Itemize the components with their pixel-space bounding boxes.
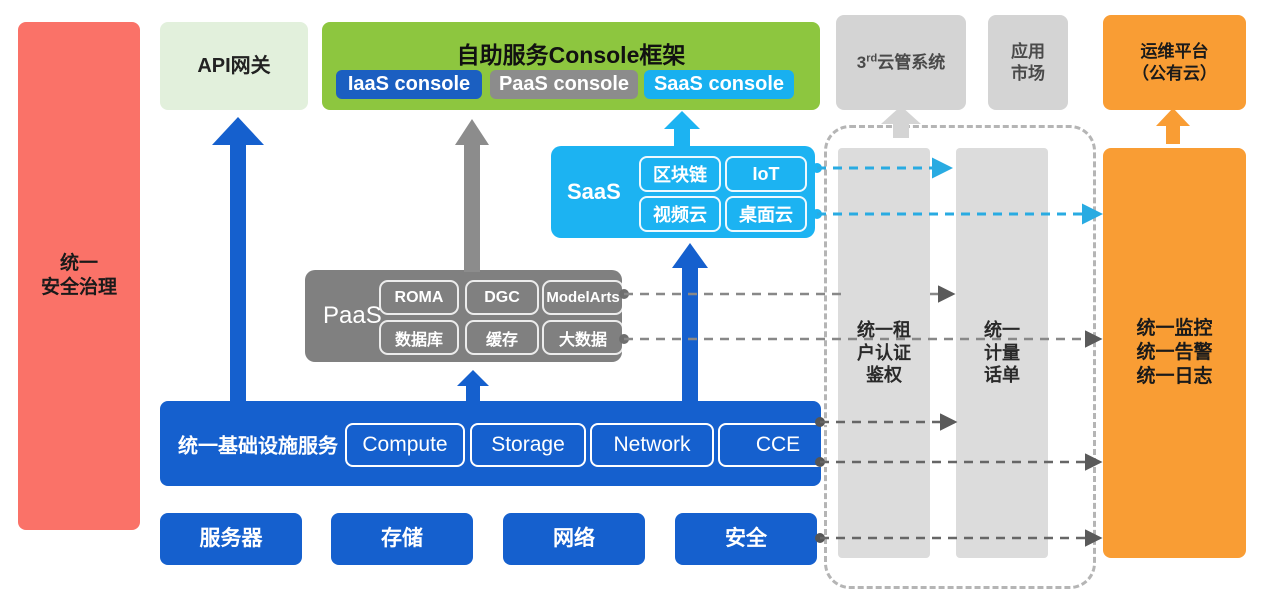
panel-unified-security-governance: 统一 安全治理 (18, 22, 140, 530)
resource-box-storage-label: 存储 (381, 526, 423, 552)
column-unified-metering-billing: 统一 计量 话单 (956, 148, 1048, 558)
third-party-tail: 云管系统 (877, 53, 945, 72)
pill-infra-compute[interactable]: Compute (345, 423, 465, 467)
arrow-infra-to-api-gateway (212, 117, 264, 402)
layer-paas: PaaS ROMA DGC ModelArts 数据库 缓存 大数据 (305, 270, 622, 362)
resource-box-storage[interactable]: 存储 (331, 513, 473, 565)
column-unified-tenant-auth-label: 统一租 户认证 鉴权 (857, 319, 911, 387)
resource-box-security[interactable]: 安全 (675, 513, 817, 565)
chip-saas-console[interactable]: SaaS console (644, 70, 794, 99)
pill-paas-bigdata[interactable]: 大数据 (542, 320, 624, 355)
pill-infra-network[interactable]: Network (590, 423, 714, 467)
resource-box-server-label: 服务器 (200, 526, 263, 552)
column-unified-tenant-auth: 统一租 户认证 鉴权 (838, 148, 930, 558)
arrow-paas-to-console (455, 119, 489, 272)
pill-saas-blockchain-label: 区块链 (653, 161, 707, 187)
pill-saas-iot-label: IoT (753, 164, 780, 185)
chip-paas-console-label: PaaS console (499, 73, 629, 96)
arrow-to-ops-platform (1156, 108, 1190, 144)
arrow-infra-to-saas (672, 243, 708, 404)
card-third-party-cloud-management: 3rd云管系统 (836, 15, 966, 110)
third-party-superscript: rd (866, 52, 877, 64)
chip-paas-console[interactable]: PaaS console (490, 70, 638, 99)
layer-unified-infrastructure: 统一基础设施服务 Compute Storage Network CCE (160, 401, 821, 486)
console-framework: 自助服务Console框架 IaaS console PaaS console … (322, 22, 820, 110)
pill-paas-modelarts-label: ModelArts (546, 289, 619, 306)
resource-box-server[interactable]: 服务器 (160, 513, 302, 565)
layer-saas-label: SaaS (567, 179, 621, 205)
pill-paas-bigdata-label: 大数据 (559, 326, 607, 350)
chip-iaas-console-label: IaaS console (348, 73, 470, 96)
pill-saas-desktop-cloud-label: 桌面云 (739, 201, 793, 227)
card-app-market: 应用 市场 (988, 15, 1068, 110)
pill-paas-roma-label: ROMA (395, 289, 444, 307)
layer-saas: SaaS 区块链 IoT 视频云 桌面云 (551, 146, 815, 238)
card-third-party-cloud-management-label: 3rd云管系统 (857, 52, 945, 73)
dashed-paas-to-tenant-auth (619, 289, 845, 299)
third-party-base: 3 (857, 53, 866, 72)
resource-box-network-label: 网络 (553, 526, 595, 552)
diagram-canvas: 统一 安全治理 API网关 自助服务Console框架 IaaS console… (0, 0, 1265, 605)
chip-saas-console-label: SaaS console (654, 73, 784, 96)
pill-saas-desktop-cloud[interactable]: 桌面云 (725, 196, 807, 232)
pill-infra-compute-label: Compute (362, 433, 447, 457)
pill-infra-cce-label: CCE (756, 433, 800, 457)
resource-box-network[interactable]: 网络 (503, 513, 645, 565)
pill-paas-dgc[interactable]: DGC (465, 280, 539, 315)
pill-paas-cache[interactable]: 缓存 (465, 320, 539, 355)
pill-paas-roma[interactable]: ROMA (379, 280, 459, 315)
card-app-market-label: 应用 市场 (1011, 41, 1045, 84)
card-api-gateway-label: API网关 (197, 54, 270, 79)
pill-paas-modelarts[interactable]: ModelArts (542, 280, 624, 315)
card-ops-platform: 运维平台 （公有云） (1103, 15, 1246, 110)
pill-saas-blockchain[interactable]: 区块链 (639, 156, 721, 192)
pill-paas-cache-label: 缓存 (486, 326, 518, 350)
card-api-gateway: API网关 (160, 22, 308, 110)
pill-saas-iot[interactable]: IoT (725, 156, 807, 192)
layer-unified-infrastructure-label: 统一基础设施服务 (178, 429, 338, 458)
layer-paas-label: PaaS (323, 302, 382, 330)
arrow-infra-to-paas (457, 370, 489, 403)
chip-iaas-console[interactable]: IaaS console (336, 70, 482, 99)
pill-paas-database[interactable]: 数据库 (379, 320, 459, 355)
pill-infra-network-label: Network (613, 433, 690, 457)
pill-infra-storage-label: Storage (491, 433, 565, 457)
resource-box-security-label: 安全 (725, 526, 767, 552)
column-unified-metering-billing-label: 统一 计量 话单 (984, 319, 1020, 387)
pill-saas-video-cloud-label: 视频云 (653, 201, 707, 227)
pill-paas-database-label: 数据库 (395, 326, 443, 350)
pill-infra-storage[interactable]: Storage (470, 423, 586, 467)
pill-saas-video-cloud[interactable]: 视频云 (639, 196, 721, 232)
panel-unified-monitoring: 统一监控 统一告警 统一日志 (1103, 148, 1246, 558)
pill-infra-cce[interactable]: CCE (718, 423, 838, 467)
pill-paas-dgc-label: DGC (484, 289, 520, 307)
panel-unified-security-governance-label: 统一 安全治理 (41, 252, 117, 300)
panel-unified-monitoring-label: 统一监控 统一告警 统一日志 (1136, 317, 1212, 388)
arrow-saas-to-saas-console (664, 111, 700, 147)
console-framework-title: 自助服务Console框架 (322, 36, 820, 70)
card-ops-platform-label: 运维平台 （公有云） (1132, 41, 1217, 84)
